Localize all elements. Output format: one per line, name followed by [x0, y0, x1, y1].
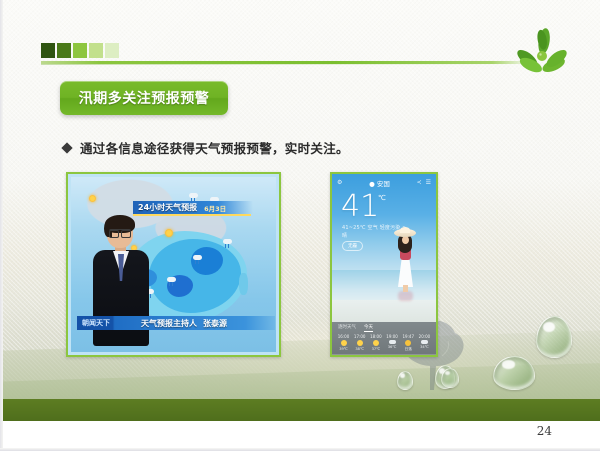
- cloud-icon: [389, 340, 396, 344]
- tv-headline-text: 24小时天气预报: [138, 202, 197, 213]
- hourly-cell: 19:47 日落: [401, 334, 416, 352]
- slide-canvas: 汛期多关注预报预警 通过各信息途径获得天气预报预警，实时关注。: [3, 0, 600, 421]
- hourly-cell: 16:00 39℃: [336, 334, 351, 352]
- hourly-cell: 19:00 36℃: [385, 334, 400, 352]
- water-droplet-medium: [493, 356, 533, 388]
- hourly-temp: 39℃: [339, 347, 348, 351]
- page-title: 汛期多关注预报预警: [79, 88, 210, 108]
- woman-skirt: [398, 259, 413, 287]
- app-location-label: 安国: [377, 180, 390, 188]
- tv-program-name: 朝闻天下: [77, 318, 115, 328]
- tv-presenter-role: 天气预报主持人: [141, 318, 197, 329]
- app-daily-forecast[interactable]: 明 天 06/28 38 24 星期五 06/29 38: [332, 354, 436, 357]
- app-hourly-forecast[interactable]: 16:00 39℃ 17:00 38℃ 18:00 37℃: [332, 333, 436, 352]
- sun-icon: [373, 340, 379, 346]
- hourly-temp: 日落: [405, 347, 412, 352]
- swatch-2: [57, 43, 71, 58]
- tv-presenter-name: 张泰源: [203, 318, 227, 329]
- water-droplet-large: [536, 316, 570, 356]
- hourly-time: 16:00: [338, 334, 350, 339]
- sunset-icon: [405, 340, 411, 346]
- hourly-time: 20:00: [419, 334, 431, 339]
- swatch-5: [105, 43, 119, 58]
- daily-row[interactable]: 明 天 06/28 38 24: [332, 355, 436, 357]
- woman-reflection: [398, 291, 413, 301]
- water-droplet-ring: [397, 371, 411, 388]
- bullet-row: 通过各信息途径获得天气预报预警，实时关注。: [63, 138, 349, 157]
- mobile-weather-app-screenshot[interactable]: ⚙ ● 安国 ≺ ☰ 41 ℃ 41~25℃ 空气 轻度污染 > 晴 无霾: [330, 172, 438, 357]
- hourly-cell: 17:00 38℃: [352, 334, 367, 352]
- app-haze-chip[interactable]: 无霾: [342, 241, 363, 251]
- swatch-3: [73, 43, 87, 58]
- location-pin-icon: ●: [369, 180, 375, 188]
- app-sand-background: [332, 300, 436, 322]
- hourly-temp: 36℃: [388, 345, 397, 349]
- app-forecast-tabs: 逐时天气 今天: [332, 322, 436, 333]
- tv-headline-underline: [133, 214, 251, 216]
- swatch-1: [41, 43, 55, 58]
- rain-icon-e: [167, 277, 176, 286]
- app-condition: 晴: [342, 232, 347, 239]
- header-color-swatches: [41, 43, 119, 58]
- tv-caption-band: 朝闻天下 天气预报主持人 张泰源: [77, 316, 275, 330]
- woman-legs: [403, 285, 408, 292]
- hourly-time: 19:47: [402, 334, 414, 339]
- tab-hourly[interactable]: 逐时天气: [338, 324, 356, 332]
- swatch-4: [89, 43, 103, 58]
- rain-icon-c: [223, 239, 232, 248]
- daily-icon-wrap: [369, 356, 409, 357]
- tv-headline-band: 24小时天气预报 6月3日: [133, 201, 253, 214]
- share-icon[interactable]: ≺: [417, 179, 422, 186]
- tv-screen-content: 24小时天气预报 6月3日 朝闻天下: [71, 177, 276, 352]
- hourly-time: 17:00: [354, 334, 366, 339]
- footer-green-band: [3, 399, 600, 421]
- diamond-bullet-icon: [61, 142, 72, 153]
- tv-weather-broadcast-image[interactable]: 24小时天气预报 6月3日 朝闻天下: [66, 172, 281, 357]
- slide-footer: [3, 421, 600, 451]
- app-location[interactable]: ● 安国: [342, 178, 416, 188]
- precip-zone-taiwan: [239, 273, 248, 295]
- bullet-text: 通过各信息途径获得天气预报预警，实时关注。: [80, 138, 349, 157]
- sun-icon-north: [89, 195, 96, 202]
- hamburger-menu-icon[interactable]: ☰: [426, 179, 431, 186]
- app-current-temperature: 41: [341, 192, 379, 222]
- app-temperature-unit: ℃: [378, 194, 386, 202]
- app-top-bar: ⚙ ● 安国 ≺ ☰: [332, 176, 436, 189]
- page-number: 24: [537, 424, 552, 438]
- water-droplet-tiny: [441, 368, 457, 386]
- leaf-flower-icon: [509, 28, 579, 84]
- hourly-time: 19:00: [386, 334, 398, 339]
- hourly-time: 18:00: [370, 334, 382, 339]
- hourly-temp: 38℃: [355, 347, 364, 351]
- tab-today[interactable]: 今天: [364, 324, 373, 332]
- header-divider-line-shadow: [41, 64, 511, 65]
- sun-icon-east: [165, 229, 173, 237]
- rain-icon-d: [193, 255, 202, 264]
- sun-icon: [357, 340, 363, 346]
- hourly-cell: 18:00 37℃: [368, 334, 383, 352]
- sun-icon: [341, 340, 347, 346]
- cloud-icon: [421, 340, 428, 344]
- woman-sunhat-crown: [400, 227, 410, 233]
- hourly-temp: 37℃: [372, 347, 381, 351]
- presentation-slide: 汛期多关注预报预警 通过各信息途径获得天气预报预警，实时关注。: [0, 0, 600, 451]
- app-forecast-panel: 逐时天气 今天 16:00 39℃ 17:00 38℃ 18: [332, 322, 436, 355]
- tv-headline-date: 6月3日: [204, 203, 226, 213]
- hourly-temp: 34℃: [420, 345, 429, 349]
- hourly-cell: 20:00 34℃: [417, 334, 432, 352]
- woman-face: [402, 236, 409, 244]
- section-title-pill[interactable]: 汛期多关注预报预警: [60, 81, 228, 115]
- beach-woman-figure: [394, 229, 416, 295]
- presenter-glasses-icon: [109, 229, 131, 236]
